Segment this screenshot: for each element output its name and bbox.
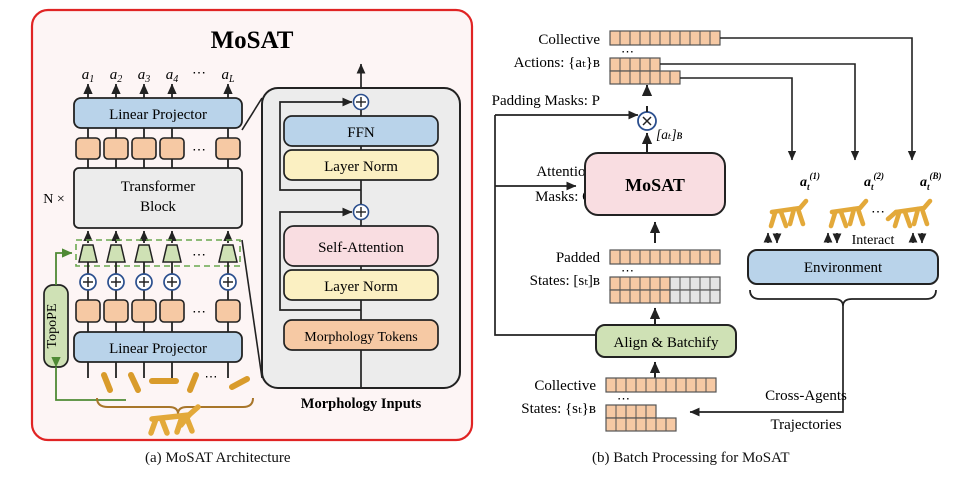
interact-arrows <box>768 233 922 243</box>
out-a3-sub: 3 <box>144 74 150 85</box>
out-a3: a <box>138 67 146 83</box>
mosat-box-label: MoSAT <box>625 175 685 195</box>
figure-mosat: MoSAT a1 a2 a3 a4 ⋯ aL Linear Projector <box>0 0 960 494</box>
collective-actions-long-row <box>610 31 720 45</box>
environment-brace <box>750 290 936 306</box>
environment-label: Environment <box>804 260 883 276</box>
agent-icon-1 <box>771 201 806 226</box>
agent-icon-b <box>888 201 930 226</box>
agent-a2: a <box>864 175 871 190</box>
morphology-tokens-label: Morphology Tokens <box>304 330 417 345</box>
self-attention-label: Self-Attention <box>318 240 404 256</box>
align-batchify-label: Align & Batchify <box>614 335 719 351</box>
svg-text:at(B): at(B) <box>920 171 942 192</box>
out-a2: a <box>110 67 118 83</box>
bottom-token-ellipsis: ⋯ <box>192 305 206 320</box>
out-aL: a <box>221 67 229 83</box>
interact-label: Interact <box>852 233 895 248</box>
padded-states-block <box>610 277 720 303</box>
transformer-block-label-2: Block <box>140 199 176 215</box>
out-a4-sub: 4 <box>173 74 178 85</box>
padded-states-label-line1: Padded <box>556 250 601 266</box>
padded-states-long-row <box>610 250 720 264</box>
collective-states-long-row <box>606 378 716 392</box>
collective-states-label-line2: States: {sₜ}ʙ <box>521 401 596 417</box>
panel-a-title: MoSAT <box>211 27 294 54</box>
caption-a: (a) MoSAT Architecture <box>145 450 291 467</box>
trapezoid-ellipsis: ⋯ <box>192 248 206 263</box>
agent-icon-2 <box>831 201 866 226</box>
diagram-canvas: MoSAT a1 a2 a3 a4 ⋯ aL Linear Projector <box>0 0 960 494</box>
layer-norm-bottom-label: Layer Norm <box>324 279 398 295</box>
collective-actions-label-line1: Collective <box>538 32 600 48</box>
morphology-rods-ellipsis: ⋯ <box>205 369 218 384</box>
out-a1-sub: 1 <box>89 74 94 85</box>
agents-ellipsis: ⋯ <box>871 205 885 220</box>
agent-a1: a <box>800 175 807 190</box>
layer-norm-top-label: Layer Norm <box>324 159 398 175</box>
cross-agents-label-line2: Trajectories <box>770 417 841 433</box>
out-a1: a <box>82 67 90 83</box>
collective-actions-label-line2: Actions: {aₜ}ʙ <box>514 55 600 71</box>
caption-b: (b) Batch Processing for MoSAT <box>592 450 789 467</box>
collective-actions-vellipsis: ⋯ <box>621 44 634 59</box>
action-routing-lines <box>660 38 912 160</box>
collective-states-block <box>606 405 676 431</box>
morphology-inputs-label: Morphology Inputs <box>301 396 422 412</box>
out-ellipsis: ⋯ <box>192 66 206 81</box>
top-linear-projector-label: Linear Projector <box>109 107 207 123</box>
padded-states-label-line2: States: [sₜ]ʙ <box>530 273 600 289</box>
padded-states-vellipsis: ⋯ <box>621 263 634 278</box>
topo-pe-label: TopoPE <box>45 304 60 349</box>
collective-states-label-line1: Collective <box>534 378 596 394</box>
out-a4: a <box>166 67 174 83</box>
bottom-linear-projector-label: Linear Projector <box>109 341 207 357</box>
top-token-ellipsis: ⋯ <box>192 143 206 158</box>
panel-a-architecture: MoSAT a1 a2 a3 a4 ⋯ aL Linear Projector <box>32 10 472 440</box>
panel-b-batch-processing: Collective Actions: {aₜ}ʙ ⋯ <box>492 31 942 433</box>
collective-actions-block <box>610 58 680 84</box>
collective-states-vellipsis: ⋯ <box>617 391 630 406</box>
agent-action-labels: at(1) at(2) at(B) <box>800 171 942 192</box>
out-aL-sub: L <box>228 74 235 85</box>
agent-aB: a <box>920 175 927 190</box>
transformer-block-label-1: Transformer <box>121 179 195 195</box>
svg-text:at(2): at(2) <box>864 171 884 192</box>
multiply-node <box>638 112 656 130</box>
svg-text:at(1): at(1) <box>800 171 820 192</box>
ffn-label: FFN <box>347 125 375 141</box>
cross-agents-label-line1: Cross-Agents <box>765 388 847 404</box>
repeat-count-label: N × <box>43 192 65 207</box>
padding-masks-label: Padding Masks: P <box>492 93 600 109</box>
out-a2-sub: 2 <box>117 74 122 85</box>
batched-actions-label: [aₜ]ʙ <box>656 127 683 142</box>
transformer-block-box <box>74 168 242 228</box>
